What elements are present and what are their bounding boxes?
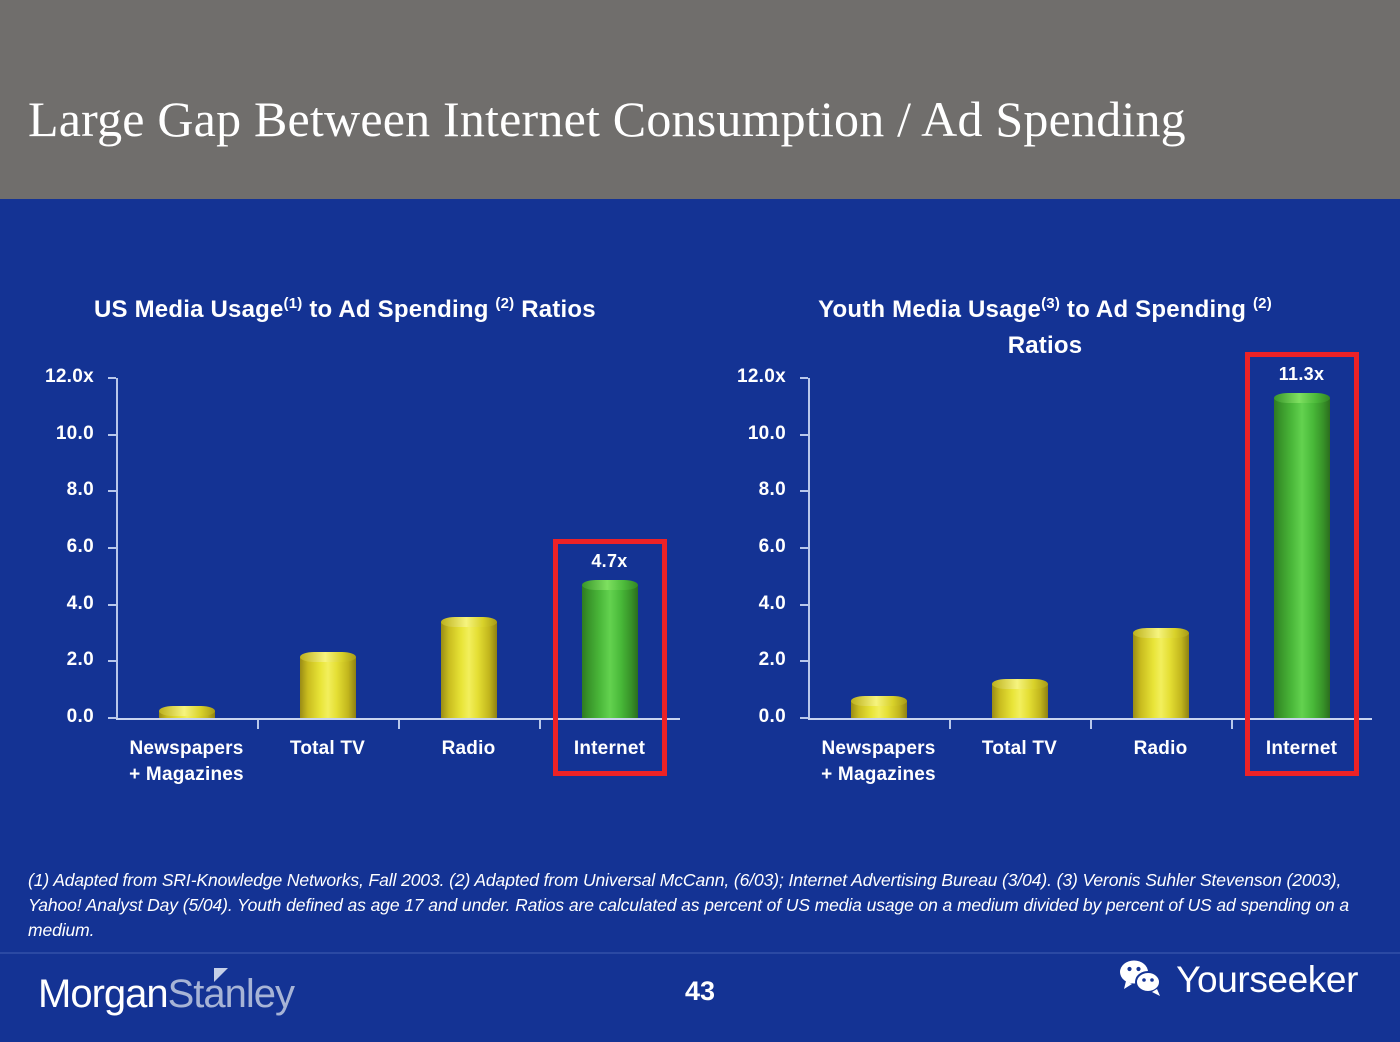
bar-body bbox=[582, 585, 638, 718]
footer-divider bbox=[0, 952, 1400, 954]
y-axis-tick bbox=[800, 604, 808, 606]
y-axis-tick-label: 0.0 bbox=[712, 706, 786, 728]
y-axis-tick-label: 0.0 bbox=[20, 706, 94, 728]
bar-value-label: 11.3x bbox=[1242, 364, 1362, 385]
y-axis-tick bbox=[108, 434, 116, 436]
y-axis-tick-label: 10.0 bbox=[712, 423, 786, 445]
chart-panel-us-media: US Media Usage(1) to Ad Spending (2) Rat… bbox=[8, 272, 698, 802]
y-axis-line bbox=[808, 378, 810, 720]
y-axis-tick-label: 12.0x bbox=[20, 366, 94, 388]
slide: Large Gap Between Internet Consumption /… bbox=[0, 0, 1400, 1042]
y-axis-tick-label: 4.0 bbox=[712, 593, 786, 615]
bar-cap bbox=[1274, 393, 1330, 403]
x-axis-tick bbox=[539, 720, 541, 729]
y-axis-tick-label: 8.0 bbox=[20, 479, 94, 501]
y-axis-tick-label: 2.0 bbox=[712, 649, 786, 671]
y-axis-tick-label: 12.0x bbox=[712, 366, 786, 388]
chart-panel-youth-media: Youth Media Usage(3) to Ad Spending (2)R… bbox=[700, 272, 1390, 802]
bar-cap bbox=[441, 617, 497, 627]
bar-radio bbox=[441, 622, 497, 718]
bar-newspapers-magazines bbox=[159, 711, 215, 718]
bar-value-label: 4.7x bbox=[550, 551, 670, 572]
bar-body bbox=[1133, 633, 1189, 718]
category-label-line1: Internet bbox=[1212, 736, 1392, 762]
brand-watermark: Yourseeker bbox=[1118, 958, 1358, 1001]
bar-cap bbox=[300, 652, 356, 662]
category-label-line2: + Magazines bbox=[97, 762, 277, 788]
wechat-icon bbox=[1118, 958, 1164, 1001]
bar-newspapers-magazines bbox=[851, 701, 907, 718]
slide-header: Large Gap Between Internet Consumption /… bbox=[0, 0, 1400, 199]
brand-name: Yourseeker bbox=[1176, 959, 1358, 1001]
y-axis-tick-label: 10.0 bbox=[20, 423, 94, 445]
category-label-line1: Internet bbox=[520, 736, 700, 762]
bar-cap bbox=[582, 580, 638, 590]
y-axis-tick bbox=[800, 717, 808, 719]
plot-area-us-media: 0.02.04.06.08.010.012.0xNewspapers+ Maga… bbox=[8, 272, 698, 802]
bar-cap bbox=[1133, 628, 1189, 638]
y-axis-tick bbox=[800, 490, 808, 492]
y-axis-tick bbox=[800, 377, 808, 379]
bar-body bbox=[441, 622, 497, 718]
y-axis-tick-label: 6.0 bbox=[20, 536, 94, 558]
y-axis-tick bbox=[108, 660, 116, 662]
plot-area-youth-media: 0.02.04.06.08.010.012.0xNewspapers+ Maga… bbox=[700, 272, 1390, 802]
bar-body bbox=[1274, 398, 1330, 718]
x-axis-tick bbox=[398, 720, 400, 729]
category-label-line2: + Magazines bbox=[789, 762, 969, 788]
x-axis-tick bbox=[1231, 720, 1233, 729]
y-axis-tick bbox=[108, 547, 116, 549]
footnote: (1) Adapted from SRI-Knowledge Networks,… bbox=[28, 868, 1376, 943]
bar-cap bbox=[159, 706, 215, 716]
bar-internet bbox=[1274, 398, 1330, 718]
bar-total-tv bbox=[300, 657, 356, 718]
y-axis-tick-label: 2.0 bbox=[20, 649, 94, 671]
x-axis-tick bbox=[1090, 720, 1092, 729]
y-axis-tick bbox=[800, 434, 808, 436]
y-axis-tick bbox=[800, 547, 808, 549]
y-axis-tick bbox=[108, 717, 116, 719]
bar-body bbox=[300, 657, 356, 718]
bar-cap bbox=[851, 696, 907, 706]
y-axis-tick bbox=[108, 377, 116, 379]
x-axis-tick bbox=[949, 720, 951, 729]
bar-radio bbox=[1133, 633, 1189, 718]
bar-total-tv bbox=[992, 684, 1048, 718]
bar-body bbox=[992, 684, 1048, 718]
bar-internet bbox=[582, 585, 638, 718]
y-axis-tick bbox=[108, 604, 116, 606]
y-axis-tick bbox=[108, 490, 116, 492]
x-axis-category-label: Internet bbox=[520, 736, 700, 762]
x-axis-tick bbox=[257, 720, 259, 729]
y-axis-line bbox=[116, 378, 118, 720]
x-axis-category-label: Internet bbox=[1212, 736, 1392, 762]
y-axis-tick-label: 6.0 bbox=[712, 536, 786, 558]
y-axis-tick-label: 8.0 bbox=[712, 479, 786, 501]
bar-cap bbox=[992, 679, 1048, 689]
y-axis-tick bbox=[800, 660, 808, 662]
page-title: Large Gap Between Internet Consumption /… bbox=[28, 90, 1186, 148]
y-axis-tick-label: 4.0 bbox=[20, 593, 94, 615]
